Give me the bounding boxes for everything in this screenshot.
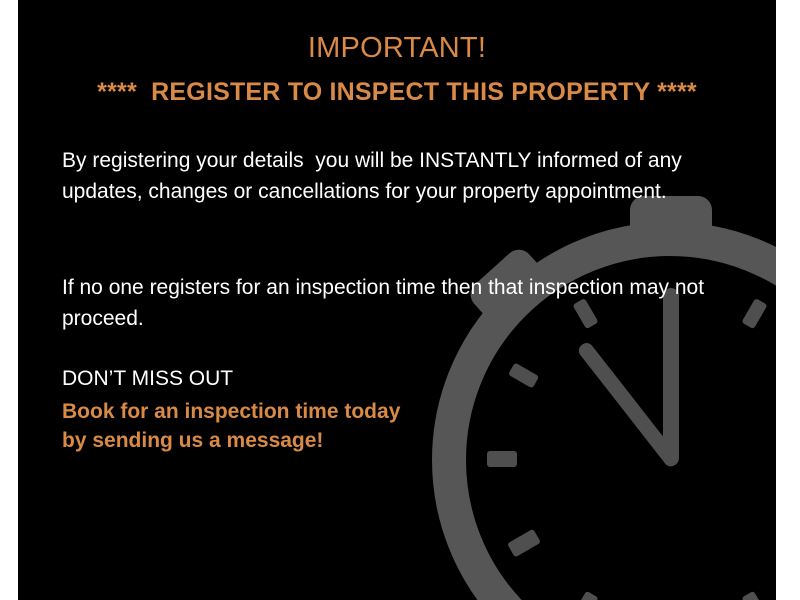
headline-important: IMPORTANT! xyxy=(18,31,776,65)
paragraph-inspection-warning: If no one registers for an inspection ti… xyxy=(62,272,742,334)
cta-send-message: by sending us a message! xyxy=(62,426,742,455)
paragraph-registration-benefits: By registering your details you will be … xyxy=(62,145,742,207)
text-layer: IMPORTANT! **** REGISTER TO INSPECT THIS… xyxy=(18,0,776,600)
poster-canvas: IMPORTANT! **** REGISTER TO INSPECT THIS… xyxy=(0,0,800,600)
cta-dont-miss-out: DON’T MISS OUT xyxy=(62,364,742,393)
advertisement-panel: IMPORTANT! **** REGISTER TO INSPECT THIS… xyxy=(18,0,776,600)
cta-book-inspection: Book for an inspection time today xyxy=(62,397,742,426)
headline-register-to-inspect: **** REGISTER TO INSPECT THIS PROPERTY *… xyxy=(18,77,776,108)
